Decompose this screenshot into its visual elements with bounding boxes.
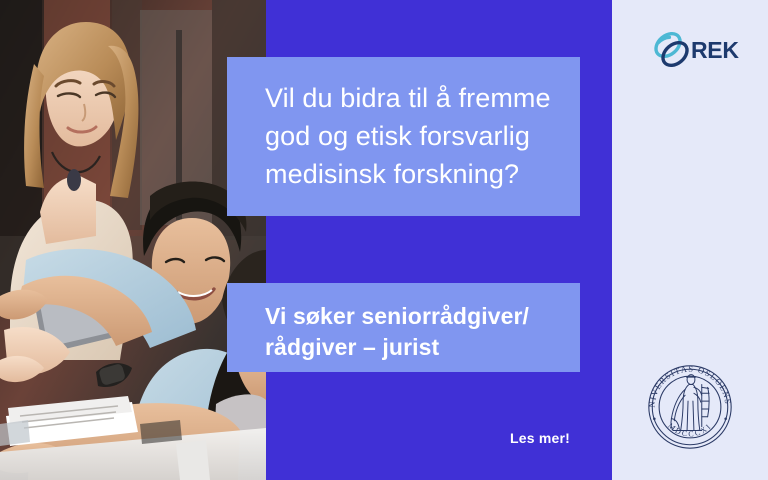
rek-wordmark: REK (691, 37, 739, 64)
job-title-callout: Vi søker seniorrådgiver/ rådgiver – juri… (227, 283, 580, 372)
headline-text: Vil du bidra til å fremme god og etisk f… (265, 79, 556, 193)
read-more-link[interactable]: Les mer! (227, 430, 580, 446)
job-title-text: Vi søker seniorrådgiver/ rådgiver – juri… (265, 301, 556, 363)
uio-seal: UNIVERSITAS OSLOENSIS MDCCCXI (641, 358, 739, 456)
rek-logo: REK (650, 26, 746, 74)
recruitment-banner: Vil du bidra til å fremme god og etisk f… (0, 0, 768, 480)
rek-rings-icon (650, 28, 694, 72)
uio-seal-top-text: UNIVERSITAS OSLOENSIS (641, 358, 733, 408)
headline-callout: Vil du bidra til å fremme god og etisk f… (227, 57, 580, 216)
